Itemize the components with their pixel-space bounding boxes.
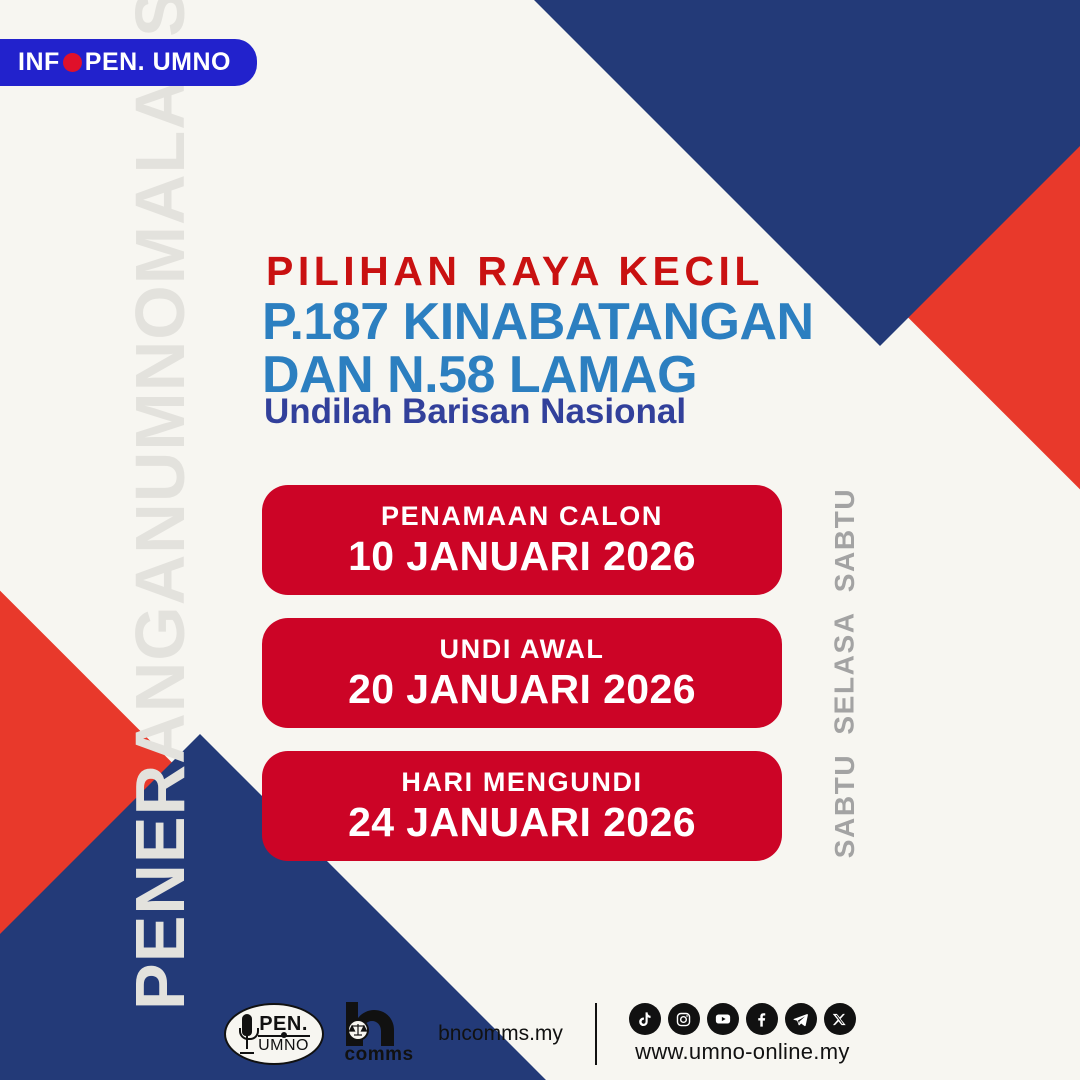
info-pen-umno-badge: INF PEN. UMNO xyxy=(0,39,257,86)
card-label: HARI MENGUNDI xyxy=(401,767,642,798)
pen-logo-divider xyxy=(258,1035,310,1037)
tiktok-icon[interactable] xyxy=(629,1003,661,1035)
youtube-icon[interactable] xyxy=(707,1003,739,1035)
card-day-label: SELASA xyxy=(829,611,861,734)
main-heading: P.187 KINABATANGAN DAN N.58 LAMAG xyxy=(262,296,814,402)
telegram-icon[interactable] xyxy=(785,1003,817,1035)
umno-online-url: www.umno-online.my xyxy=(635,1039,849,1065)
watermark-text: PENERANGANUMNOMALAYSIA xyxy=(120,10,200,1010)
pen-logo-top-text: PEN. xyxy=(259,1014,308,1034)
date-card: HARI MENGUNDI 24 JANUARI 2026 xyxy=(262,751,782,861)
date-card-row: HARI MENGUNDI 24 JANUARI 2026 SABTU xyxy=(262,751,782,861)
bn-logo-caption: comms xyxy=(345,1044,414,1066)
badge-text-before: INF xyxy=(18,48,60,77)
card-day: SABTU xyxy=(790,751,900,861)
poster-canvas: PENERANGANUMNOMALAYSIA INF PEN. UMNO PIL… xyxy=(0,0,1080,1080)
pen-logo-bottom-text: UMNO xyxy=(258,1038,309,1054)
date-card-list: PENAMAAN CALON 10 JANUARI 2026 SABTU UND… xyxy=(262,485,782,884)
card-day-label: SABTU xyxy=(829,488,861,592)
date-card: PENAMAAN CALON 10 JANUARI 2026 xyxy=(262,485,782,595)
card-day: SABTU xyxy=(790,485,900,595)
bn-comms-url: bncomms.my xyxy=(438,1022,563,1046)
x-twitter-icon[interactable] xyxy=(824,1003,856,1035)
corner-red-block-top-right xyxy=(726,0,1080,504)
eyebrow-heading: PILIHAN RAYA KECIL xyxy=(266,248,764,295)
microphone-pen-icon xyxy=(239,1014,255,1054)
card-day: SELASA xyxy=(790,618,900,728)
card-date: 10 JANUARI 2026 xyxy=(348,533,696,580)
card-day-label: SABTU xyxy=(829,754,861,858)
bn-comms-logo: comms xyxy=(342,1002,416,1066)
red-dot-icon xyxy=(63,53,82,72)
subtitle: Undilah Barisan Nasional xyxy=(264,392,686,432)
footer-bar: PEN. UMNO xyxy=(0,1002,1080,1066)
date-card-row: PENAMAAN CALON 10 JANUARI 2026 SABTU xyxy=(262,485,782,595)
card-label: UNDI AWAL xyxy=(440,634,605,665)
card-label: PENAMAAN CALON xyxy=(381,501,663,532)
card-date: 20 JANUARI 2026 xyxy=(348,666,696,713)
facebook-icon[interactable] xyxy=(746,1003,778,1035)
corner-red-stripe-top-right xyxy=(393,0,1080,68)
bn-mark-icon xyxy=(342,1002,416,1046)
date-card: UNDI AWAL 20 JANUARI 2026 xyxy=(262,618,782,728)
instagram-icon[interactable] xyxy=(668,1003,700,1035)
card-date: 24 JANUARI 2026 xyxy=(348,799,696,846)
pen-umno-logo: PEN. UMNO xyxy=(224,1003,324,1065)
date-card-row: UNDI AWAL 20 JANUARI 2026 SELASA xyxy=(262,618,782,728)
social-links: www.umno-online.my xyxy=(629,1003,856,1065)
main-heading-line-1: P.187 KINABATANGAN xyxy=(262,296,814,349)
badge-text-after: PEN. UMNO xyxy=(85,48,231,77)
footer-divider xyxy=(595,1003,597,1065)
corner-blue-stripe-top-right xyxy=(393,0,1080,96)
